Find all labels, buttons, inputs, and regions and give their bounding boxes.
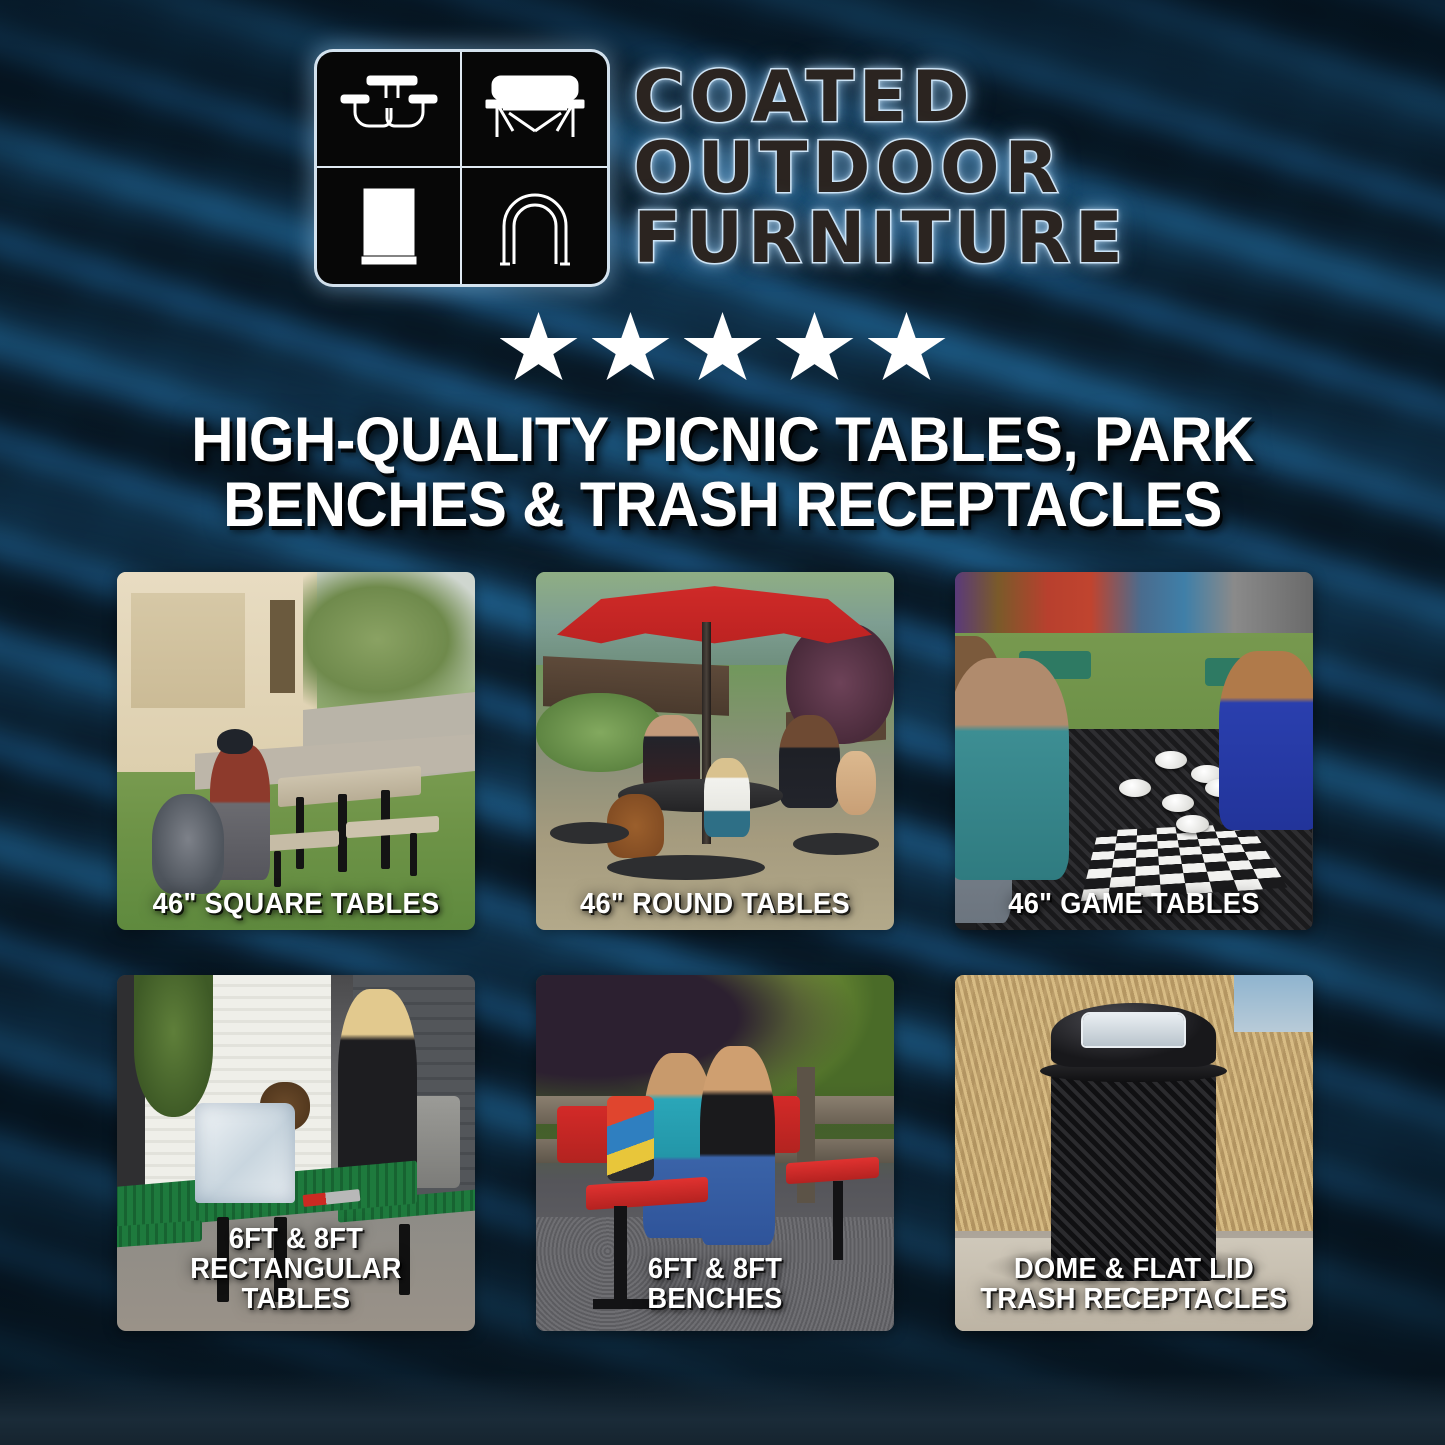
headline-line-2: BENCHES & TRASH RECEPTACLES: [106, 473, 1338, 538]
product-caption-benches: 6FT & 8FT BENCHES: [546, 1255, 883, 1315]
caption-line: 46" SQUARE TABLES: [133, 890, 458, 920]
picnic-table-icon: [317, 52, 462, 168]
star-rating: [0, 312, 1445, 386]
caption-line: 46" ROUND TABLES: [552, 890, 877, 920]
brand-name-line-1: COATED: [633, 63, 1128, 132]
product-tile-trash-receptacles[interactable]: DOME & FLAT LID TRASH RECEPTACLES: [955, 975, 1313, 1331]
caption-line: DOME & FLAT LID: [971, 1255, 1296, 1285]
brand-name-line-3: FURNITURE: [633, 204, 1128, 273]
product-tile-game-tables[interactable]: 46" GAME TABLES: [955, 572, 1313, 930]
brand-name-line-2: OUTDOOR: [633, 134, 1128, 203]
caption-line: RECTANGULAR TABLES: [133, 1255, 458, 1315]
brand-logo: COATED OUTDOOR FURNITURE: [0, 0, 1445, 284]
product-tile-round-tables[interactable]: 46" ROUND TABLES: [536, 572, 894, 930]
trash-receptacle-icon: [317, 168, 462, 284]
product-caption-rectangular-tables: 6FT & 8FT RECTANGULAR TABLES: [127, 1225, 464, 1315]
page-title: HIGH-QUALITY PICNIC TABLES, PARK BENCHES…: [51, 408, 1395, 538]
star-icon: [868, 312, 946, 386]
brand-wordmark: COATED OUTDOOR FURNITURE: [633, 63, 1128, 273]
star-icon: [500, 312, 578, 386]
logo-mark-quadrants: [317, 52, 607, 284]
star-icon: [776, 312, 854, 386]
caption-line: 6FT & 8FT: [133, 1225, 458, 1255]
product-photo-square-tables: [117, 572, 475, 930]
product-tile-rectangular-tables[interactable]: 6FT & 8FT RECTANGULAR TABLES: [117, 975, 475, 1331]
product-caption-game-tables: 46" GAME TABLES: [965, 890, 1302, 920]
star-icon: [684, 312, 762, 386]
product-tile-square-tables[interactable]: 46" SQUARE TABLES: [117, 572, 475, 930]
product-caption-trash-receptacles: DOME & FLAT LID TRASH RECEPTACLES: [965, 1255, 1302, 1315]
headline-line-1: HIGH-QUALITY PICNIC TABLES, PARK: [106, 408, 1338, 473]
park-bench-icon: [462, 52, 607, 168]
product-tile-benches[interactable]: 6FT & 8FT BENCHES: [536, 975, 894, 1331]
product-caption-round-tables: 46" ROUND TABLES: [546, 890, 883, 920]
product-grid: 46" SQUARE TABLES 46" ROUND TABLES: [117, 572, 1329, 1331]
caption-line: BENCHES: [552, 1285, 877, 1315]
product-photo-round-tables: [536, 572, 894, 930]
bike-rack-arch-icon: [462, 168, 607, 284]
caption-line: TRASH RECEPTACLES: [971, 1285, 1296, 1315]
caption-line: 6FT & 8FT: [552, 1255, 877, 1285]
promo-poster: COATED OUTDOOR FURNITURE HIGH-QUALITY PI…: [0, 0, 1445, 1445]
product-caption-square-tables: 46" SQUARE TABLES: [127, 890, 464, 920]
star-icon: [592, 312, 670, 386]
caption-line: 46" GAME TABLES: [971, 890, 1296, 920]
product-photo-game-tables: [955, 572, 1313, 930]
